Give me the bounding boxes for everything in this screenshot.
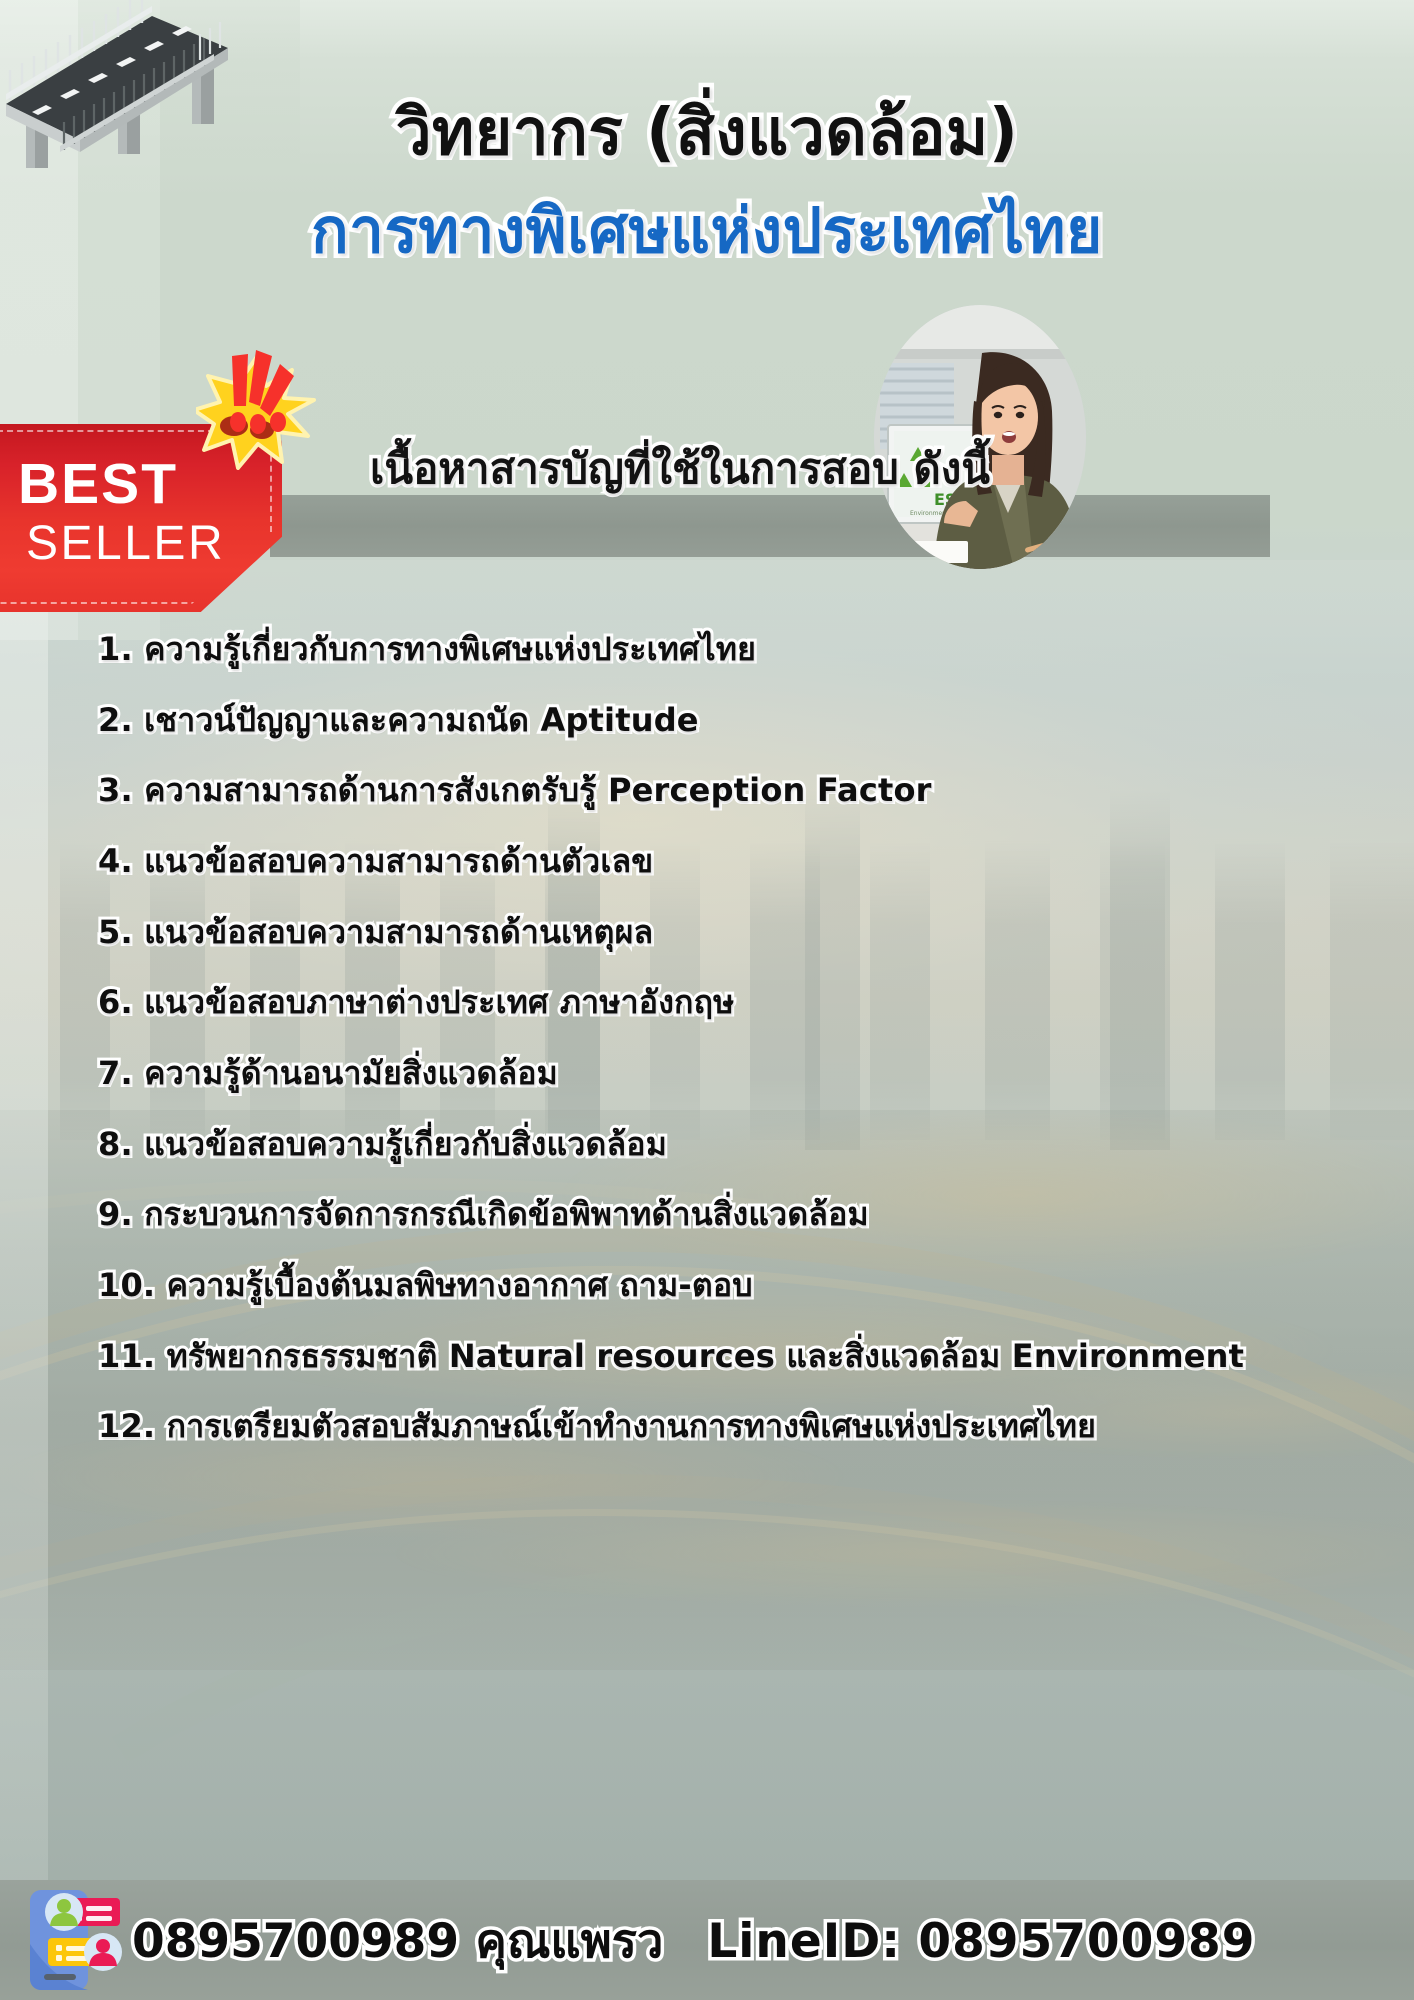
footer-contact-text: 0895700989 คุณแพรว LineID: 0895700989 — [132, 1903, 1255, 1978]
list-item: 7. ความรู้ด้านอนามัยสิ่งแวดล้อม — [98, 1054, 1328, 1094]
topic-list: 1. ความรู้เกี่ยวกับการทางพิเศษแห่งประเทศ… — [98, 630, 1328, 1478]
badge-best-label: BEST — [18, 456, 178, 513]
list-item: 9. กระบวนการจัดการกรณีเกิดข้อพิพาทด้านสิ… — [98, 1195, 1328, 1235]
list-item: 5. แนวข้อสอบความสามารถด้านเหตุผล — [98, 913, 1328, 953]
poster-title-block: วิทยากร (สิ่งแวดล้อม) การทางพิเศษแห่งประ… — [0, 98, 1414, 265]
page-title: วิทยากร (สิ่งแวดล้อม) — [0, 98, 1414, 170]
poster-root: วิทยากร (สิ่งแวดล้อม) การทางพิเศษแห่งประ… — [0, 0, 1414, 2000]
list-item: 1. ความรู้เกี่ยวกับการทางพิเศษแห่งประเทศ… — [98, 630, 1328, 670]
list-item: 8. แนวข้อสอบความรู้เกี่ยวกับสิ่งแวดล้อม — [98, 1125, 1328, 1165]
list-item: 3. ความสามารถด้านการสังเกตรับรู้ Percept… — [98, 771, 1328, 811]
background-left-gutter — [0, 560, 48, 1880]
list-item: 2. เชาวน์ปัญญาและความถนัด Aptitude — [98, 701, 1328, 741]
exclamation-burst-icon — [196, 348, 316, 470]
section-banner-bar — [270, 495, 1270, 557]
list-item: 6. แนวข้อสอบภาษาต่างประเทศ ภาษาอังกฤษ — [98, 983, 1328, 1023]
page-subtitle: การทางพิเศษแห่งประเทศไทย — [0, 196, 1414, 265]
contact-phone: 0895700989 คุณแพรว — [132, 1903, 663, 1978]
banner-heading: เนื้อหาสารบัญที่ใช้ในการสอบ ดังนี้ — [300, 436, 1060, 502]
list-item: 4. แนวข้อสอบความสามารถด้านตัวเลข — [98, 842, 1328, 882]
badge-seller-label: SELLER — [26, 520, 225, 568]
contact-footer: 0895700989 คุณแพรว LineID: 0895700989 — [0, 1880, 1414, 2000]
contact-line-id: LineID: 0895700989 — [707, 1914, 1255, 1969]
list-item: 11. ทรัพยากรธรรมชาติ Natural resources แ… — [98, 1337, 1328, 1377]
contact-list-icon — [18, 1886, 126, 1994]
list-item: 10. ความรู้เบื้องต้นมลพิษทางอากาศ ถาม-ตอ… — [98, 1266, 1328, 1306]
list-item: 12. การเตรียมตัวสอบสัมภาษณ์เข้าทำงานการท… — [98, 1407, 1328, 1447]
